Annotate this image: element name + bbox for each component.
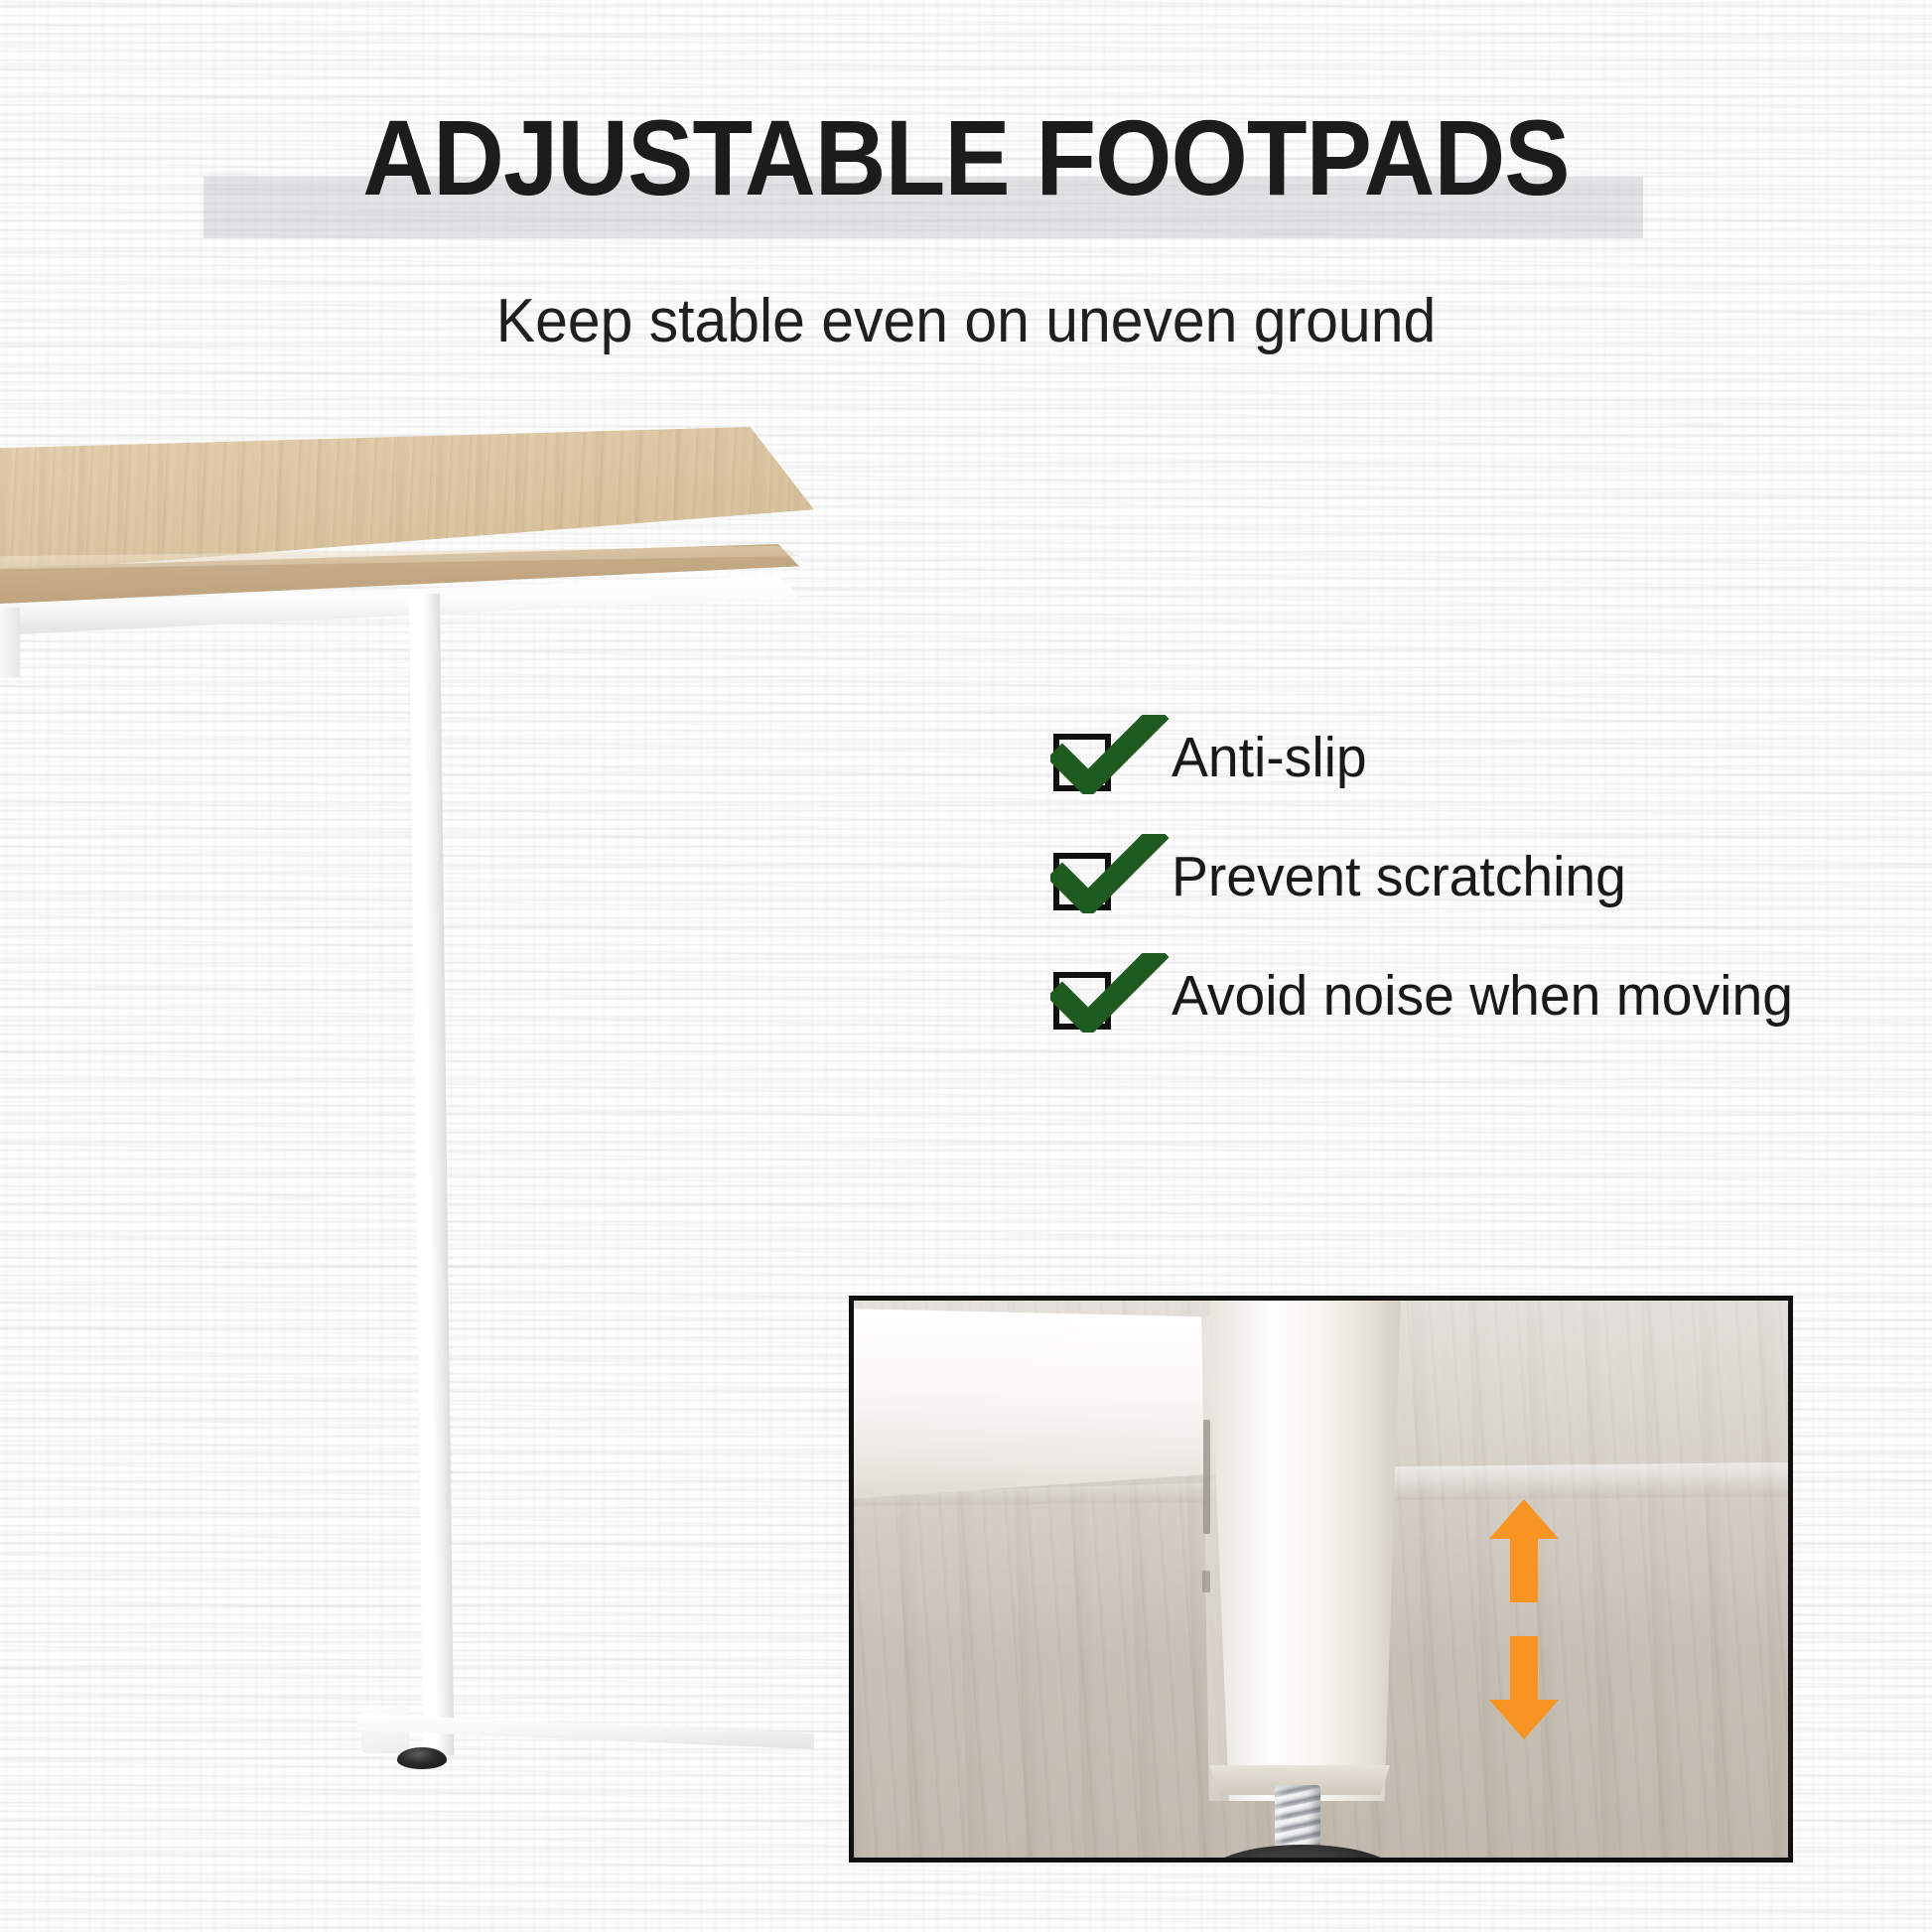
feature-item-label: Anti-slip (1172, 725, 1367, 790)
feature-item-label: Prevent scratching (1172, 844, 1626, 909)
feature-item-label: Avoid noise when moving (1172, 963, 1793, 1029)
page-title: ADJUSTABLE FOOTPADS (77, 95, 1855, 219)
checkbox-checked-icon (1054, 854, 1110, 909)
checkbox-checked-icon (1054, 735, 1110, 790)
inset-leg-weld-seam (1203, 1420, 1210, 1534)
desk-footpad (397, 1747, 447, 1769)
desk-leg-rear (0, 608, 20, 677)
arrow-down-icon (1489, 1636, 1559, 1739)
arrow-up-icon (1489, 1499, 1559, 1602)
footpad-detail-inset-photo (849, 1296, 1793, 1863)
inset-leg-weld-seam-lower (1202, 1571, 1210, 1592)
desk-product-photo (0, 427, 973, 1747)
inset-table-leg-facet (1196, 1296, 1276, 1801)
checkbox-checked-icon (1054, 973, 1110, 1029)
product-feature-banner: ADJUSTABLE FOOTPADS Keep stable even on … (0, 0, 1932, 1932)
page-subtitle: Keep stable even on uneven ground (49, 286, 1884, 356)
